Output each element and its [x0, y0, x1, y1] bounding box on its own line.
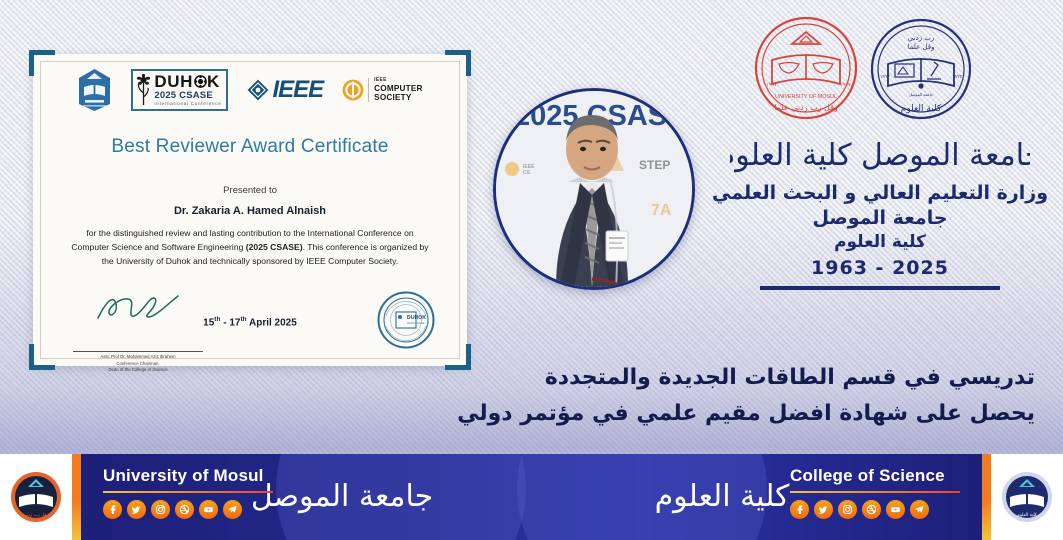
duhok-logo-sub: 2025 CSASE — [154, 91, 221, 101]
banner-left-accent — [72, 454, 81, 540]
svg-text:وقل رب زدني: وقل رب زدني — [23, 513, 49, 518]
svg-text:رب زدني: رب زدني — [908, 34, 934, 42]
arabic-calligraphy: جامعة الموصل كلية العلوم — [700, 132, 1060, 180]
college-of-science-seal-icon: رب زدني وقل علما جامعة الموصل كلية العلو… — [868, 16, 974, 122]
duhok-conference-stamp-icon: DUHOK 2025 CSASE — [377, 291, 435, 349]
twitter-icon[interactable] — [814, 500, 833, 519]
banner-right-cell: College of Science — [790, 466, 960, 519]
certificate-body-text: for the distinguished review and lasting… — [71, 227, 429, 269]
arabic-divider-rule — [760, 286, 1000, 290]
instagram-icon[interactable] — [838, 500, 857, 519]
cs-line-2: SOCIETY — [374, 93, 422, 102]
svg-text:كلية العلوم: كلية العلوم — [901, 104, 942, 114]
svg-text:2025 CSASE: 2025 CSASE — [407, 321, 425, 325]
arabic-ministry-line: وزارة التعليم العالي و البحث العلمي — [700, 182, 1060, 204]
banner-left-socials — [103, 500, 273, 519]
university-of-mosul-seal-icon: UNIVERSITY OF MOSUL وقل رب زدني علما ١٩٦… — [752, 14, 860, 122]
twitter-icon[interactable] — [127, 500, 146, 519]
signatory-role-2: Dean of the College of Science — [73, 367, 203, 374]
telegram-icon[interactable] — [223, 500, 242, 519]
university-of-mosul-logo-icon: وقل رب زدني — [10, 471, 62, 523]
svg-text:7A: 7A — [651, 202, 672, 219]
date-day-start: 15 — [203, 317, 214, 328]
svg-text:كلية العلوم: كلية العلوم — [1017, 512, 1038, 518]
signatory-role-1: Conference Chairman, — [73, 361, 203, 368]
university-of-duhok-shield-icon — [77, 68, 112, 112]
duhok-conference-logo: DUH K 2025 CSASE International Confer — [131, 69, 228, 110]
banner-right-rule — [790, 491, 960, 493]
college-of-science-logo-icon: كلية العلوم — [1001, 471, 1053, 523]
arabic-college-line: كلية العلوم — [700, 232, 1060, 252]
svg-text:STEP: STEP — [639, 158, 670, 172]
cs-line-1: COMPUTER — [374, 84, 422, 93]
poster-canvas: DUH K 2025 CSASE International Confer — [0, 0, 1063, 540]
telegram-icon[interactable] — [910, 500, 929, 519]
svg-text:CS: CS — [523, 170, 531, 176]
svg-text:وقل رب زدني علما: وقل رب زدني علما — [774, 103, 838, 112]
recipient-portrait: 2025 CSASE IEEE CS STEP 7A — [493, 88, 695, 290]
certificate-logo-row: DUH K 2025 CSASE International Confer — [33, 68, 467, 112]
computer-society-circle-icon — [342, 79, 364, 101]
recipient-name: Dr. Zakaria A. Hamed Alnaish — [33, 205, 467, 217]
svg-text:١٩٦٣: ١٩٦٣ — [952, 74, 962, 79]
signatory-name: Asst. Prof Dr. Mohammed Aziz Ibrahem — [73, 354, 203, 361]
banner-arc-left — [276, 454, 526, 540]
facebook-icon[interactable] — [103, 500, 122, 519]
svg-text:١٩٦٣: ١٩٦٣ — [880, 74, 890, 79]
banner-left-cell: University of Mosul — [103, 466, 273, 519]
ieee-computer-society-logo: IEEE COMPUTER SOCIETY — [342, 78, 422, 102]
banner-right-accent — [982, 454, 991, 540]
svg-text:وقل علما: وقل علما — [908, 43, 935, 51]
facebook-icon[interactable] — [790, 500, 809, 519]
caption-line-2: يحصل على شهادة افضل مقيم علمي في مؤتمر د… — [335, 396, 1035, 432]
banner-left-title: University of Mosul — [103, 466, 273, 486]
instagram-icon[interactable] — [151, 500, 170, 519]
banner-left-logo-pad: وقل رب زدني — [0, 454, 72, 540]
certificate-card: DUH K 2025 CSASE International Confer — [33, 54, 467, 366]
banner-right-title: College of Science — [790, 466, 960, 486]
signature-rule — [73, 351, 203, 352]
bottom-banner: وقل رب زدني جامعة الموصل كلية العلوم Uni… — [0, 454, 1063, 540]
caption-block: تدريسي في قسم الطاقات الجديدة والمتجددة … — [335, 360, 1035, 431]
signature-caption: Asst. Prof Dr. Mohammed Aziz Ibrahem Con… — [73, 354, 203, 374]
calligraphy-icon: جامعة الموصل كلية العلوم — [730, 133, 1030, 179]
signature-block: Asst. Prof Dr. Mohammed Aziz Ibrahem Con… — [73, 294, 203, 374]
corner-bracket-bottom-left — [29, 344, 55, 370]
svg-text:١٩٦٧: ١٩٦٧ — [840, 82, 851, 88]
duhok-logo-main: DUH — [154, 73, 193, 90]
banner-right-socials — [790, 500, 960, 519]
duhok-logo-tail: K — [207, 73, 220, 90]
certificate-title: Best Reviewer Award Certificate — [33, 136, 467, 158]
banner-left-rule — [103, 491, 273, 493]
banner-content: جامعة الموصل كلية العلوم University of M… — [81, 454, 982, 540]
date-middle: - 17 — [220, 317, 240, 328]
svg-text:UNIVERSITY OF MOSUL: UNIVERSITY OF MOSUL — [775, 94, 837, 100]
ieee-diamond-icon — [247, 79, 269, 101]
banner-right-logo-pad: كلية العلوم — [991, 454, 1063, 540]
arabic-university-line: جامعة الموصل — [700, 207, 1060, 229]
dribbble-icon[interactable] — [175, 500, 194, 519]
arabic-header-block: جامعة الموصل كلية العلوم وزارة التعليم ا… — [700, 132, 1060, 290]
youtube-icon[interactable] — [886, 500, 905, 519]
youtube-icon[interactable] — [199, 500, 218, 519]
dribbble-icon[interactable] — [862, 500, 881, 519]
duhok-o-flower-icon — [194, 75, 207, 88]
caption-line-1: تدريسي في قسم الطاقات الجديدة والمتجددة — [335, 360, 1035, 396]
ieee-logo: IEEE — [247, 76, 323, 104]
arabic-years-line: 2025 - 1963 — [700, 257, 1060, 279]
flower-icon — [136, 74, 151, 107]
ieee-logo-text: IEEE — [272, 76, 323, 104]
presented-to-label: Presented to — [33, 185, 467, 196]
svg-text:جامعة الموصل: جامعة الموصل — [909, 92, 934, 97]
body-text-bold: (2025 CSASE) — [246, 242, 303, 252]
date-tail: April 2025 — [247, 317, 297, 328]
svg-text:١٩٦٧: ١٩٦٧ — [766, 82, 777, 88]
duhok-logo-sub2: International Conference — [154, 102, 221, 107]
calligraphy-text: جامعة الموصل كلية العلوم — [730, 138, 1030, 173]
banner-arc-right — [517, 454, 767, 540]
